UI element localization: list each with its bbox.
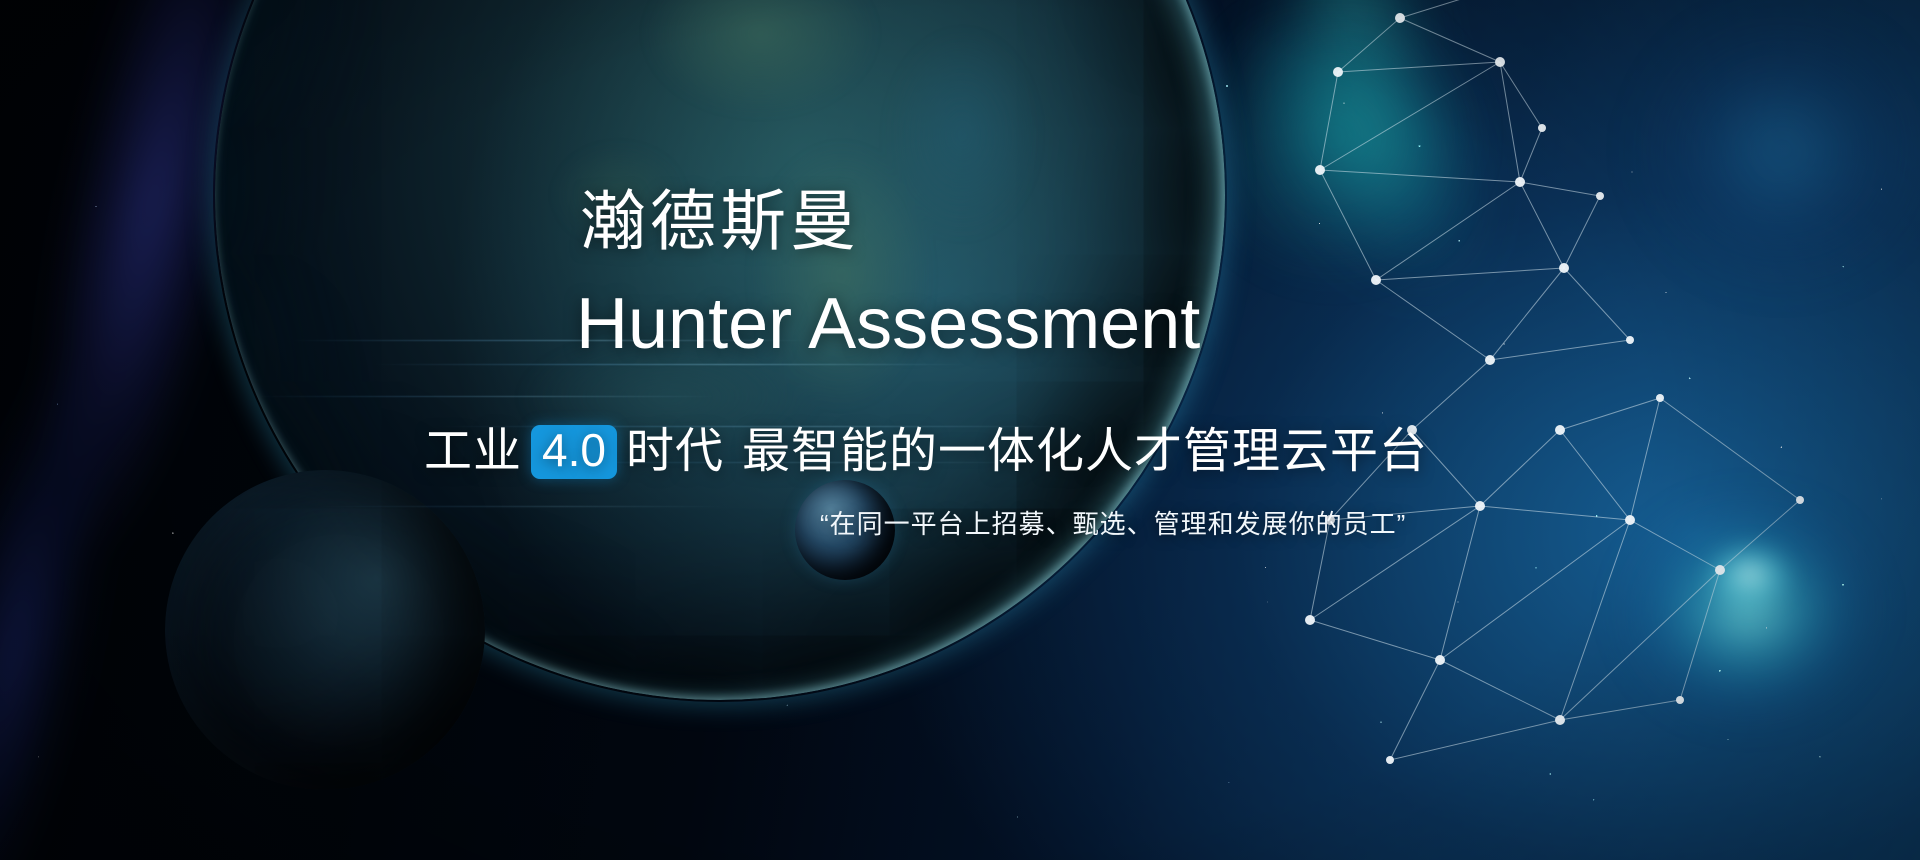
brand-title-english: Hunter Assessment bbox=[576, 288, 1200, 360]
version-badge: 4.0 bbox=[531, 425, 617, 479]
tagline: 工业 4.0 时代 最智能的一体化人才管理云平台 bbox=[424, 424, 1428, 481]
tagline-segment-era: 时代 bbox=[626, 424, 724, 481]
hero-content: 瀚德斯曼 Hunter Assessment 工业 4.0 时代 最智能的一体化… bbox=[0, 0, 1920, 860]
tagline-subquote: “在同一平台上招募、甄选、管理和发展你的员工” bbox=[820, 508, 1406, 542]
tagline-segment-platform: 最智能的一体化人才管理云平台 bbox=[742, 424, 1428, 481]
hero-banner: 瀚德斯曼 Hunter Assessment 工业 4.0 时代 最智能的一体化… bbox=[0, 0, 1920, 860]
tagline-segment-industry: 工业 bbox=[424, 424, 522, 481]
brand-title-chinese: 瀚德斯曼 bbox=[580, 188, 860, 254]
